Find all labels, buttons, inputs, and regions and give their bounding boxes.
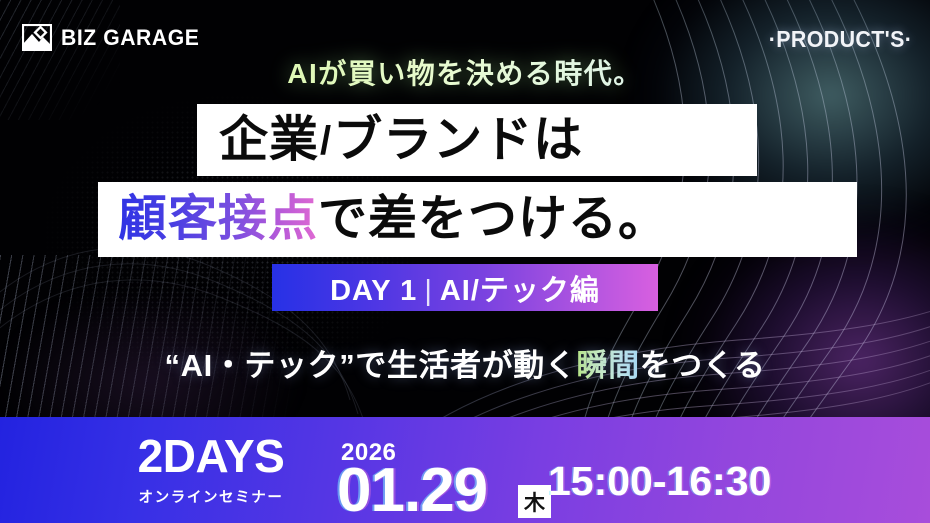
days-block: 2DAYS オンラインセミナー: [118, 433, 304, 507]
sub-headline-pre: “AI・テック”で生活者が動く: [165, 348, 577, 383]
product-s-label: ·PRODUCT'S·: [769, 26, 912, 53]
headline-line-2: 顧客接点で差をつける。: [118, 195, 668, 244]
event-day-of-week: 木: [518, 485, 551, 518]
sub-headline-post: をつくる: [640, 348, 766, 383]
brand-logo[interactable]: BIZ GARAGE: [22, 24, 208, 51]
seminar-banner: BIZ GARAGE ·PRODUCT'S· AIが買い物を決める時代。 企業/…: [0, 0, 930, 523]
days-label: 2DAYS: [118, 433, 304, 479]
logo-text: BIZ GARAGE: [61, 25, 199, 51]
headline-line1-part-b: ブランドは: [333, 113, 583, 167]
headline-line1-part-a: 企業: [219, 113, 319, 167]
day-badge-separator: |: [417, 275, 440, 307]
days-sublabel: オンラインセミナー: [118, 486, 304, 507]
sub-headline: “AI・テック”で生活者が動く瞬間をつくる: [0, 340, 930, 385]
day-badge[interactable]: DAY 1|AI/テック編: [272, 264, 658, 311]
sub-headline-accent: 瞬間: [577, 348, 640, 383]
event-month-day: 01.29: [337, 460, 487, 522]
day-badge-day: DAY 1: [330, 275, 417, 307]
headline-line1-slash: /: [319, 119, 333, 163]
day-badge-text: DAY 1|AI/テック編: [330, 267, 600, 309]
headline-bar-2: 顧客接点で差をつける。: [98, 182, 857, 257]
day-badge-topic: AI/テック編: [440, 275, 600, 307]
event-time-range: 15:00-16:30: [548, 461, 771, 502]
headline-bar-1: 企業/ブランドは: [197, 104, 757, 176]
event-footer-bar: 2DAYS オンラインセミナー 2026 01.29 木 15:00-16:30: [0, 417, 930, 523]
headline-line2-rest: で差をつける。: [318, 192, 668, 246]
headline-line-1: 企業/ブランドは: [219, 116, 583, 165]
headline-line2-accent: 顧客接点: [118, 192, 318, 246]
biz-garage-mark-icon: [22, 24, 52, 51]
lead-line: AIが買い物を決める時代。: [0, 52, 930, 92]
